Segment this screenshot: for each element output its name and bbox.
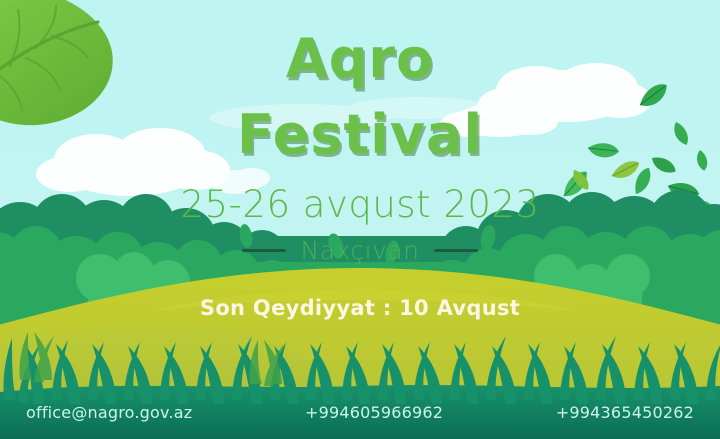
contact-email[interactable]: office@nagro.gov.az [26,405,192,421]
event-date: 25-26 avqust 2023 [0,186,720,223]
contact-bar: office@nagro.gov.az +994605966962 +99436… [0,405,720,421]
location-row: Naxçıvan [0,238,720,263]
location-name: Naxçıvan [300,238,419,263]
poster-title-line-1: Aqro [0,32,720,86]
poster-canvas: Aqro Festival 25-26 avqust 2023 Naxçıvan… [0,0,720,439]
contact-phone-2[interactable]: +994365450262 [556,405,694,421]
registration-deadline: Son Qeydiyyat : 10 Avqust [0,298,720,319]
location-dash-left [242,249,286,252]
location-dash-right [434,249,478,252]
contact-phone-1[interactable]: +994605966962 [305,405,443,421]
poster-title-line-2: Festival [0,108,720,162]
